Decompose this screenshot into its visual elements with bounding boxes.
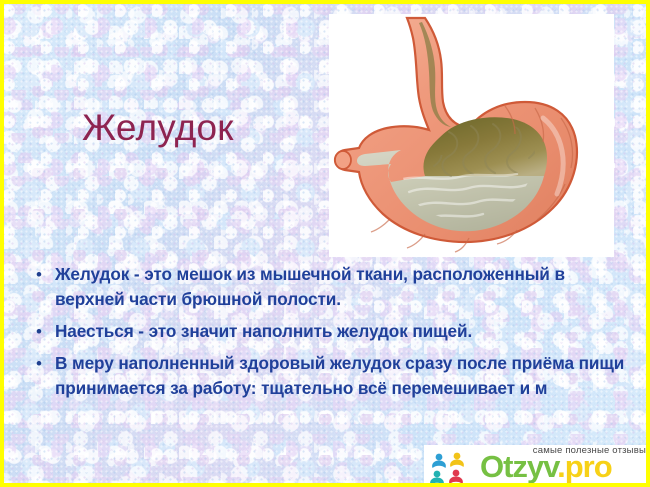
bullet-text-1: Желудок - это мешок из мышечной ткани, р…	[55, 262, 631, 312]
wordmark-primary: Otzyv	[480, 449, 557, 484]
bullet-marker-icon: •	[31, 351, 55, 376]
wordmark-suffix: .pro	[557, 449, 612, 484]
bullet-item-2: • Наесться - это значит наполнить желудо…	[31, 319, 631, 344]
slide-body-bullet-list: • Желудок - это мешок из мышечной ткани,…	[31, 262, 631, 408]
otzyv-watermark[interactable]: самые полезные отзывы	[424, 445, 650, 487]
bullet-text-3: В меру наполненный здоровый желудок сраз…	[55, 351, 631, 401]
stomach-cross-section-icon	[329, 14, 614, 257]
otzyv-pinwheel-people-logo-icon	[426, 449, 478, 485]
otzyv-wordmark: Otzyv.pro	[480, 449, 612, 485]
bullet-marker-icon: •	[31, 319, 55, 344]
bullet-text-2: Наесться - это значит наполнить желудок …	[55, 319, 631, 344]
bullet-item-1: • Желудок - это мешок из мышечной ткани,…	[31, 262, 631, 312]
stomach-illustration-panel	[329, 14, 614, 257]
pylorus-opening	[335, 151, 351, 169]
bullet-item-3: • В меру наполненный здоровый желудок ср…	[31, 351, 631, 401]
bullet-marker-icon: •	[31, 262, 55, 287]
slide-title: Желудок	[82, 109, 234, 148]
presentation-slide: Желудок	[0, 0, 650, 487]
